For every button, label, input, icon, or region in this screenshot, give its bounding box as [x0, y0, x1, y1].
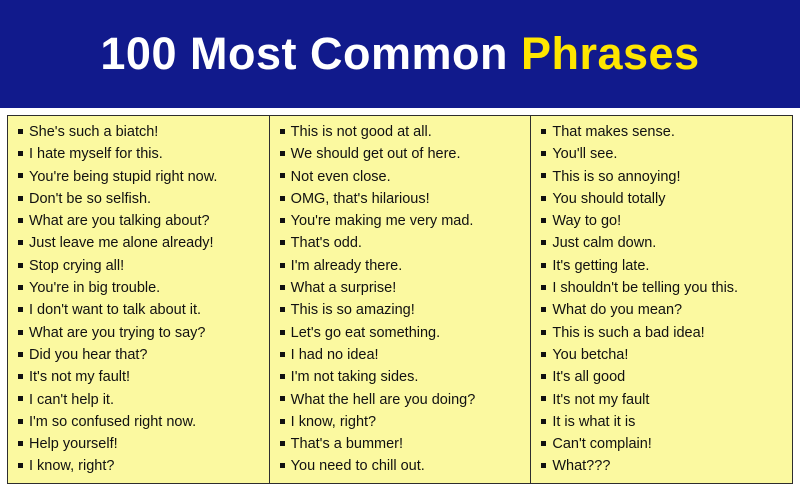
list-item: This is not good at all.: [280, 122, 527, 144]
list-item: I shouldn't be telling you this.: [541, 278, 788, 300]
list-item: You'll see.: [541, 144, 788, 166]
phrase-columns: She's such a biatch! I hate myself for t…: [7, 115, 793, 484]
list-item: What the hell are you doing?: [280, 390, 527, 412]
square-bullet-icon: [280, 368, 291, 389]
list-item: You're making me very mad.: [280, 211, 527, 233]
list-item: She's such a biatch!: [18, 122, 265, 144]
list-item: It is what it is: [541, 412, 788, 434]
list-item: I know, right?: [18, 456, 265, 478]
list-item: Not even close.: [280, 167, 527, 189]
list-item: Just calm down.: [541, 233, 788, 255]
square-bullet-icon: [18, 368, 29, 389]
square-bullet-icon: [541, 257, 552, 278]
square-bullet-icon: [18, 413, 29, 434]
list-item: Can't complain!: [541, 434, 788, 456]
square-bullet-icon: [18, 145, 29, 166]
square-bullet-icon: [18, 301, 29, 322]
square-bullet-icon: [18, 234, 29, 255]
square-bullet-icon: [18, 190, 29, 211]
list-item: Way to go!: [541, 211, 788, 233]
list-item: You should totally: [541, 189, 788, 211]
list-item: Help yourself!: [18, 434, 265, 456]
list-item: This is so amazing!: [280, 300, 527, 322]
list-item: You're being stupid right now.: [18, 167, 265, 189]
square-bullet-icon: [280, 435, 291, 456]
list-item: You betcha!: [541, 345, 788, 367]
square-bullet-icon: [541, 435, 552, 456]
square-bullet-icon: [541, 190, 552, 211]
list-item: You're in big trouble.: [18, 278, 265, 300]
square-bullet-icon: [18, 279, 29, 300]
phrase-column-2: This is not good at all. We should get o…: [269, 116, 531, 483]
list-item: I'm not taking sides.: [280, 367, 527, 389]
square-bullet-icon: [280, 301, 291, 322]
square-bullet-icon: [18, 391, 29, 412]
square-bullet-icon: [541, 391, 552, 412]
list-item: That's odd.: [280, 233, 527, 255]
list-item: I hate myself for this.: [18, 144, 265, 166]
list-item: What???: [541, 456, 788, 478]
square-bullet-icon: [541, 368, 552, 389]
page-header: 100 Most Common Phrases: [0, 0, 800, 108]
list-item: It's not my fault!: [18, 367, 265, 389]
list-item: It's not my fault: [541, 390, 788, 412]
square-bullet-icon: [18, 435, 29, 456]
list-item: Stop crying all!: [18, 256, 265, 278]
list-item: I had no idea!: [280, 345, 527, 367]
square-bullet-icon: [18, 346, 29, 367]
square-bullet-icon: [280, 324, 291, 345]
list-item: I'm already there.: [280, 256, 527, 278]
square-bullet-icon: [541, 123, 552, 144]
square-bullet-icon: [18, 123, 29, 144]
page-title-main: 100 Most Common: [100, 28, 521, 79]
square-bullet-icon: [541, 212, 552, 233]
list-item: It's getting late.: [541, 256, 788, 278]
list-item: What do you mean?: [541, 300, 788, 322]
square-bullet-icon: [280, 145, 291, 166]
page-title-accent: Phrases: [521, 28, 700, 79]
list-item: That makes sense.: [541, 122, 788, 144]
list-item: What are you talking about?: [18, 211, 265, 233]
square-bullet-icon: [541, 457, 552, 478]
square-bullet-icon: [18, 257, 29, 278]
square-bullet-icon: [541, 346, 552, 367]
square-bullet-icon: [541, 145, 552, 166]
square-bullet-icon: [541, 279, 552, 300]
list-item: It's all good: [541, 367, 788, 389]
list-item: I know, right?: [280, 412, 527, 434]
list-item: I don't want to talk about it.: [18, 300, 265, 322]
square-bullet-icon: [280, 168, 291, 189]
square-bullet-icon: [280, 457, 291, 478]
square-bullet-icon: [280, 346, 291, 367]
square-bullet-icon: [18, 168, 29, 189]
phrase-column-3: That makes sense. You'll see. This is so…: [530, 116, 792, 483]
list-item: I can't help it.: [18, 390, 265, 412]
square-bullet-icon: [280, 234, 291, 255]
list-item: Did you hear that?: [18, 345, 265, 367]
list-item: Just leave me alone already!: [18, 233, 265, 255]
page-title: 100 Most Common Phrases: [100, 28, 699, 80]
list-item: Don't be so selfish.: [18, 189, 265, 211]
square-bullet-icon: [280, 212, 291, 233]
list-item: This is so annoying!: [541, 167, 788, 189]
list-item: What a surprise!: [280, 278, 527, 300]
list-item: OMG, that's hilarious!: [280, 189, 527, 211]
square-bullet-icon: [541, 234, 552, 255]
list-item: I'm so confused right now.: [18, 412, 265, 434]
square-bullet-icon: [280, 391, 291, 412]
list-item: We should get out of here.: [280, 144, 527, 166]
square-bullet-icon: [280, 190, 291, 211]
square-bullet-icon: [18, 212, 29, 233]
square-bullet-icon: [280, 123, 291, 144]
list-item: This is such a bad idea!: [541, 323, 788, 345]
square-bullet-icon: [541, 168, 552, 189]
list-item: Let's go eat something.: [280, 323, 527, 345]
square-bullet-icon: [280, 279, 291, 300]
square-bullet-icon: [280, 257, 291, 278]
square-bullet-icon: [541, 301, 552, 322]
list-item: What are you trying to say?: [18, 323, 265, 345]
list-item: You need to chill out.: [280, 456, 527, 478]
square-bullet-icon: [541, 324, 552, 345]
list-item: That's a bummer!: [280, 434, 527, 456]
poster-page: 100 Most Common Phrases She's such a bia…: [0, 0, 800, 450]
phrase-column-1: She's such a biatch! I hate myself for t…: [8, 116, 269, 483]
square-bullet-icon: [18, 457, 29, 478]
square-bullet-icon: [541, 413, 552, 434]
square-bullet-icon: [280, 413, 291, 434]
square-bullet-icon: [18, 324, 29, 345]
phrase-list-area: She's such a biatch! I hate myself for t…: [0, 108, 800, 491]
